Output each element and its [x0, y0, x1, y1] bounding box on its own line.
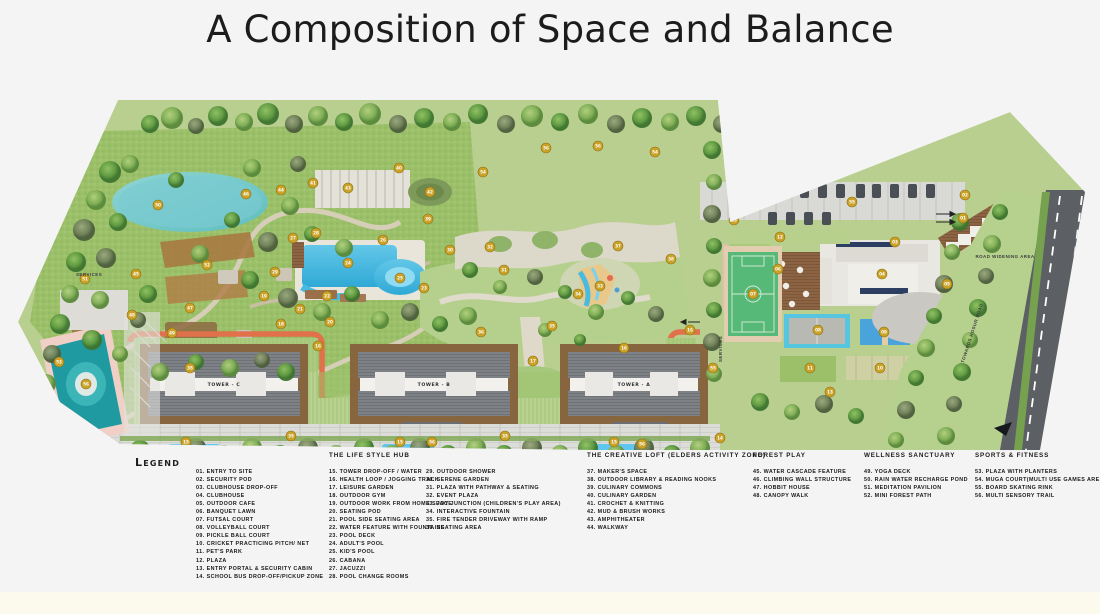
legend-item: 27. JACUZZI	[329, 565, 452, 573]
tower-label-c: TOWER - C	[208, 382, 241, 388]
svg-text:23: 23	[421, 286, 427, 291]
map-label-services: SERVICES	[76, 272, 102, 277]
legend-item: 32. EVENT PLAZA	[426, 492, 561, 500]
legend-item: 07. FUTSAL COURT	[196, 516, 323, 524]
svg-text:48: 48	[129, 313, 135, 318]
svg-text:46: 46	[243, 192, 249, 197]
legend-item: 48. CANOPY WALK	[753, 492, 851, 500]
legend-item: 03. CLUBHOUSE DROP-OFF	[196, 484, 323, 492]
svg-text:08: 08	[815, 328, 821, 333]
svg-text:32: 32	[487, 245, 493, 250]
svg-text:16: 16	[621, 346, 627, 351]
legend-item: 45. WATER CASCADE FEATURE	[753, 468, 851, 476]
svg-text:01: 01	[960, 216, 966, 221]
svg-text:12: 12	[777, 235, 783, 240]
svg-text:05: 05	[944, 282, 950, 287]
legend-item: 35. FIRE TENDER DRIVEWAY WITH RAMP	[426, 516, 561, 524]
svg-text:38: 38	[668, 257, 674, 262]
legend-item: 39. CULINARY COMMONS	[587, 484, 766, 492]
svg-text:18: 18	[278, 322, 284, 327]
svg-text:56: 56	[83, 382, 89, 387]
site-plan-page: A Composition of Space and Balance	[0, 0, 1100, 614]
svg-text:24: 24	[345, 261, 351, 266]
svg-text:56: 56	[639, 442, 645, 447]
svg-text:36: 36	[478, 330, 484, 335]
svg-text:55: 55	[25, 388, 31, 393]
svg-text:55: 55	[849, 200, 855, 205]
svg-text:56: 56	[595, 144, 601, 149]
svg-text:16: 16	[687, 328, 693, 333]
legend-item: 24. ADULT'S POOL	[329, 540, 452, 548]
tower-b-block	[350, 344, 518, 434]
svg-text:31: 31	[501, 268, 507, 273]
svg-text:10: 10	[877, 366, 883, 371]
legend-item: 41. CROCHET & KNITTING	[587, 500, 766, 508]
legend-item: 25. KID'S POOL	[329, 548, 452, 556]
legend-item: 13. ENTRY PORTAL & SECURITY CABIN	[196, 565, 323, 573]
legend-item: 43. AMPHITHEATER	[587, 516, 766, 524]
legend-list-wellness-sanctuary: 49. YOGA DECK 50. RAIN WATER RECHARGE PO…	[864, 468, 968, 500]
legend-item: 08. VOLLEYBALL COURT	[196, 524, 323, 532]
svg-text:54: 54	[480, 170, 486, 175]
svg-text:06: 06	[775, 267, 781, 272]
svg-text:13: 13	[731, 218, 737, 223]
tower-label-a: TOWER - A	[618, 382, 651, 388]
svg-text:29: 29	[272, 270, 278, 275]
legend-item: 47. HOBBIT HOUSE	[753, 484, 851, 492]
svg-text:15: 15	[611, 440, 617, 445]
svg-text:53: 53	[56, 360, 62, 365]
legend-group-sports-fitness: SPORTS & FITNESS 53. PLAZA WITH PLANTERS…	[975, 452, 1100, 500]
legend-item: 54. MUGA COURT(MULTI USE GAMES AREA)	[975, 476, 1100, 484]
legend-list-basic: 01. ENTRY TO SITE 02. SECURITY POD 03. C…	[196, 468, 323, 581]
svg-text:54: 54	[652, 150, 658, 155]
svg-text:33: 33	[597, 284, 603, 289]
legend-group-title: SPORTS & FITNESS	[975, 452, 1100, 459]
svg-text:49: 49	[169, 331, 175, 336]
svg-text:45: 45	[133, 272, 139, 277]
legend-item: 42. MUD & BRUSH WORKS	[587, 508, 766, 516]
legend-item: 50. RAIN WATER RECHARGE POND	[864, 476, 968, 484]
svg-text:22: 22	[324, 294, 330, 299]
svg-text:35: 35	[502, 434, 508, 439]
site-plan-figure: 50 49 51 52 48 47 53 55 56 45 46 44	[0, 72, 1100, 450]
svg-text:19: 19	[261, 294, 267, 299]
svg-text:39: 39	[425, 217, 431, 222]
svg-text:17: 17	[530, 359, 536, 364]
svg-text:42: 42	[427, 190, 433, 195]
legend-item: 26. CABANA	[329, 557, 452, 565]
map-label-services-right: SERVICES	[718, 336, 723, 362]
svg-text:41: 41	[310, 181, 316, 186]
tower-c-block	[140, 344, 308, 436]
legend-group-title: WELLNESS SANCTUARY	[864, 452, 968, 459]
plan-body: 50 49 51 52 48 47 53 55 56 45 46 44	[0, 72, 1100, 450]
legend-group-wellness-sanctuary: WELLNESS SANCTUARY 49. YOGA DECK 50. RAI…	[864, 452, 968, 500]
legend-item: 52. MINI FOREST PATH	[864, 492, 968, 500]
svg-text:43: 43	[345, 186, 351, 191]
svg-text:25: 25	[397, 276, 403, 281]
legend-item: 05. OUTDOOR CAFE	[196, 500, 323, 508]
tower-a-block	[560, 344, 708, 434]
legend-group-basic: 01. ENTRY TO SITE 02. SECURITY POD 03. C…	[196, 468, 323, 581]
svg-text:14: 14	[717, 436, 723, 441]
legend-list-creative-loft: 37. MAKER'S SPACE 38. OUTDOOR LIBRARY & …	[587, 468, 766, 532]
svg-text:02: 02	[962, 193, 968, 198]
svg-text:35: 35	[549, 324, 555, 329]
legend-item: 10. CRICKET PRACTICING PITCH/ NET	[196, 540, 323, 548]
legend-item: 04. CLUBHOUSE	[196, 492, 323, 500]
legend-item: 23. POOL DECK	[329, 532, 452, 540]
svg-text:51: 51	[82, 277, 88, 282]
svg-text:35: 35	[187, 366, 193, 371]
legend-item: 44. WALKWAY	[587, 524, 766, 532]
svg-text:55: 55	[710, 366, 716, 371]
legend-item: 09. PICKLE BALL COURT	[196, 532, 323, 540]
legend-item: 30. SERENE GARDEN	[426, 476, 561, 484]
svg-text:20: 20	[327, 320, 333, 325]
site-plan-canvas: 50 49 51 52 48 47 53 55 56 45 46 44	[0, 72, 1100, 450]
legend-list-lifestyle-hub-2: 29. OUTDOOR SHOWER 30. SERENE GARDEN 31.…	[426, 468, 561, 532]
legend-item: 14. SCHOOL BUS DROP-OFF/PICKUP ZONE	[196, 573, 323, 581]
svg-text:52: 52	[204, 263, 210, 268]
svg-text:15: 15	[397, 440, 403, 445]
svg-text:50: 50	[155, 203, 161, 208]
svg-text:13: 13	[827, 390, 833, 395]
legend-group-title: THE LIFE STYLE HUB	[329, 452, 452, 459]
map-label-road-widening-area: ROAD WIDENING AREA	[975, 254, 1035, 260]
footer-band	[0, 592, 1100, 614]
legend-item: 02. SECURITY POD	[196, 476, 323, 484]
legend-item: 33. JOY JUNCTION (CHILDREN'S PLAY AREA)	[426, 500, 561, 508]
legend-item: 36. SEATING AREA	[426, 524, 561, 532]
svg-text:40: 40	[396, 166, 402, 171]
legend-group-title: FOREST PLAY	[753, 452, 851, 459]
svg-text:47: 47	[187, 306, 193, 311]
svg-text:03: 03	[892, 240, 898, 245]
svg-text:56: 56	[543, 146, 549, 151]
legend-item: 12. PLAZA	[196, 557, 323, 565]
svg-text:56: 56	[429, 440, 435, 445]
legend-group-forest-play: FOREST PLAY 45. WATER CASCADE FEATURE 46…	[753, 452, 851, 500]
legend-item: 28. POOL CHANGE ROOMS	[329, 573, 452, 581]
legend-item: 49. YOGA DECK	[864, 468, 968, 476]
legend-item: 51. MEDITATION PAVILION	[864, 484, 968, 492]
svg-text:28: 28	[313, 231, 319, 236]
legend-list-forest-play: 45. WATER CASCADE FEATURE 46. CLIMBING W…	[753, 468, 851, 500]
legend-item: 37. MAKER'S SPACE	[587, 468, 766, 476]
legend-item: 53. PLAZA WITH PLANTERS	[975, 468, 1100, 476]
legend-group-creative-loft: THE CREATIVE LOFT (ELDERS ACTIVITY ZONE)…	[587, 452, 766, 532]
tower-label-b: TOWER - B	[418, 382, 451, 388]
svg-text:21: 21	[297, 307, 303, 312]
svg-text:04: 04	[879, 272, 885, 277]
legend-item: 56. MULTI SENSORY TRAIL	[975, 492, 1100, 500]
svg-text:09: 09	[881, 330, 887, 335]
page-title: A Composition of Space and Balance	[0, 8, 1100, 51]
svg-text:27: 27	[290, 236, 296, 241]
legend-group-lifestyle-hub-continued: 29. OUTDOOR SHOWER 30. SERENE GARDEN 31.…	[426, 468, 561, 532]
svg-text:26: 26	[380, 238, 386, 243]
svg-text:35: 35	[288, 434, 294, 439]
legend-item: 34. INTERACTIVE FOUNTAIN	[426, 508, 561, 516]
legend-item: 01. ENTRY TO SITE	[196, 468, 323, 476]
legend-item: 31. PLAZA WITH PATHWAY & SEATING	[426, 484, 561, 492]
legend-item: 29. OUTDOOR SHOWER	[426, 468, 561, 476]
svg-text:37: 37	[615, 244, 621, 249]
legend-item: 46. CLIMBING WALL STRUCTURE	[753, 476, 851, 484]
legend-group-title: THE CREATIVE LOFT (ELDERS ACTIVITY ZONE)	[587, 452, 766, 459]
legend-item: 11. PET'S PARK	[196, 548, 323, 556]
legend-item: 38. OUTDOOR LIBRARY & READING NOOKS	[587, 476, 766, 484]
svg-text:44: 44	[278, 188, 284, 193]
legend-heading: Legend	[135, 456, 180, 469]
svg-text:34: 34	[575, 292, 581, 297]
svg-text:16: 16	[315, 344, 321, 349]
legend-list-sports-fitness: 53. PLAZA WITH PLANTERS 54. MUGA COURT(M…	[975, 468, 1100, 500]
legend: Legend 01. ENTRY TO SITE 02. SECURITY PO…	[0, 452, 1100, 592]
site-plan-drawing: 50 49 51 52 48 47 53 55 56 45 46 44	[0, 72, 1100, 450]
legend-item: 06. BANQUET LAWN	[196, 508, 323, 516]
legend-item: 40. CULINARY GARDEN	[587, 492, 766, 500]
svg-text:30: 30	[447, 248, 453, 253]
legend-item: 55. BOARD SKATING RINK	[975, 484, 1100, 492]
svg-text:11: 11	[807, 366, 813, 371]
svg-text:07: 07	[750, 292, 756, 297]
svg-text:15: 15	[183, 440, 189, 445]
